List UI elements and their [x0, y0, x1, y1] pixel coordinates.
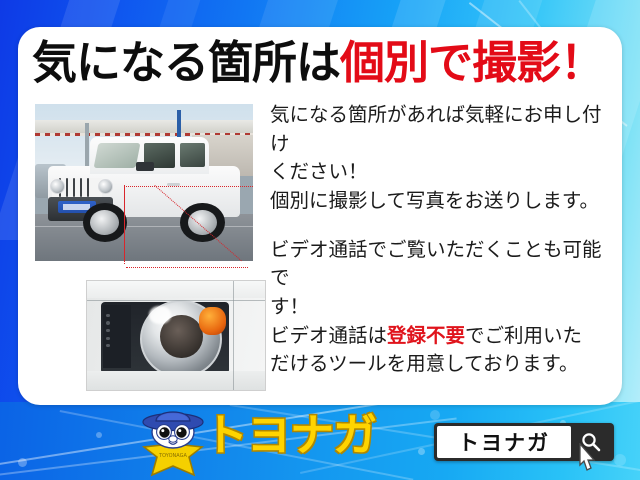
- vehicle-rear-window: [180, 143, 205, 167]
- brand-logo-text: トヨナガ: [204, 414, 376, 458]
- closeup-grille-slat: [106, 337, 110, 340]
- vehicle-wheel: [83, 203, 127, 242]
- copy-segment: ビデオ通話は: [270, 325, 387, 347]
- footer-dot: [430, 410, 440, 420]
- closeup-grille: [103, 305, 131, 368]
- closeup-headlight-glint: [149, 306, 170, 323]
- search-input[interactable]: トヨナガ: [437, 426, 571, 458]
- copy-line-highlight: ビデオ通話は登録不要でご利用いた: [270, 322, 612, 351]
- copy-line: ビデオ通話でご覧いただくことも可能で: [270, 236, 612, 293]
- search-input-value: トヨナガ: [458, 427, 550, 457]
- callout-connector-line: [126, 267, 248, 268]
- search-widget[interactable]: トヨナガ: [434, 423, 614, 461]
- closeup-grille-slat: [106, 314, 110, 317]
- vehicle-headlight: [50, 179, 65, 194]
- closeup-turn-signal: [199, 307, 226, 335]
- page-title: 気になる箇所は 個別で撮影！: [32, 31, 614, 93]
- footer-dot: [418, 448, 425, 455]
- footer-dot: [614, 454, 626, 466]
- vehicle-photo-closeup[interactable]: [86, 280, 266, 391]
- license-plate-text: [63, 204, 90, 210]
- grille-slat: [73, 178, 75, 197]
- copy-line: 気になる箇所があれば気軽にお申し付け: [270, 101, 612, 158]
- closeup-lower-body: [87, 371, 265, 390]
- closeup-grille-slat: [106, 344, 110, 347]
- copy-line: す！: [270, 293, 612, 322]
- copy-spacer: [270, 216, 612, 236]
- closeup-grille-slat: [106, 321, 110, 324]
- body-copy: 気になる箇所があれば気軽にお申し付け ください！ 個別に撮影して写真をお送りしま…: [270, 101, 612, 379]
- page-title-black: 気になる箇所は: [32, 40, 340, 85]
- footer-dot: [96, 432, 102, 438]
- vehicle-mirror: [136, 162, 153, 171]
- copy-line: ください！: [270, 158, 612, 187]
- copy-highlight-registration-free: 登録不要: [387, 325, 465, 347]
- grille-slat: [66, 178, 68, 197]
- vehicle-headlight: [98, 179, 113, 194]
- copy-line: 個別に撮影して写真をお送りします。: [270, 187, 612, 216]
- closeup-grille-slat: [106, 329, 110, 332]
- content-card: 気になる箇所は 個別で撮影！: [18, 27, 622, 405]
- vehicle-rim: [90, 210, 119, 236]
- callout-connector-line: [124, 185, 125, 264]
- copy-line: だけるツールを用意しております。: [270, 350, 612, 379]
- footer-dot: [18, 458, 27, 467]
- grille-slat: [80, 178, 82, 197]
- vehicle-windshield: [94, 143, 141, 168]
- page-title-red: 個別で撮影！: [340, 40, 604, 85]
- copy-segment: でご利用いた: [465, 325, 582, 347]
- closeup-panel-edge: [87, 300, 265, 301]
- mascot-icon: TOYONAGA: [140, 405, 206, 477]
- vehicle-photo-main[interactable]: [35, 104, 253, 261]
- closeup-panel-edge: [233, 281, 234, 390]
- photo-canopy: [35, 120, 253, 134]
- svg-text:TOYONAGA: TOYONAGA: [158, 453, 187, 459]
- mouse-cursor-icon: [573, 443, 601, 477]
- grille-slat: [87, 178, 89, 197]
- photo-callout-box: [124, 186, 253, 261]
- brand-logo: TOYONAGA トヨナガ: [140, 402, 402, 478]
